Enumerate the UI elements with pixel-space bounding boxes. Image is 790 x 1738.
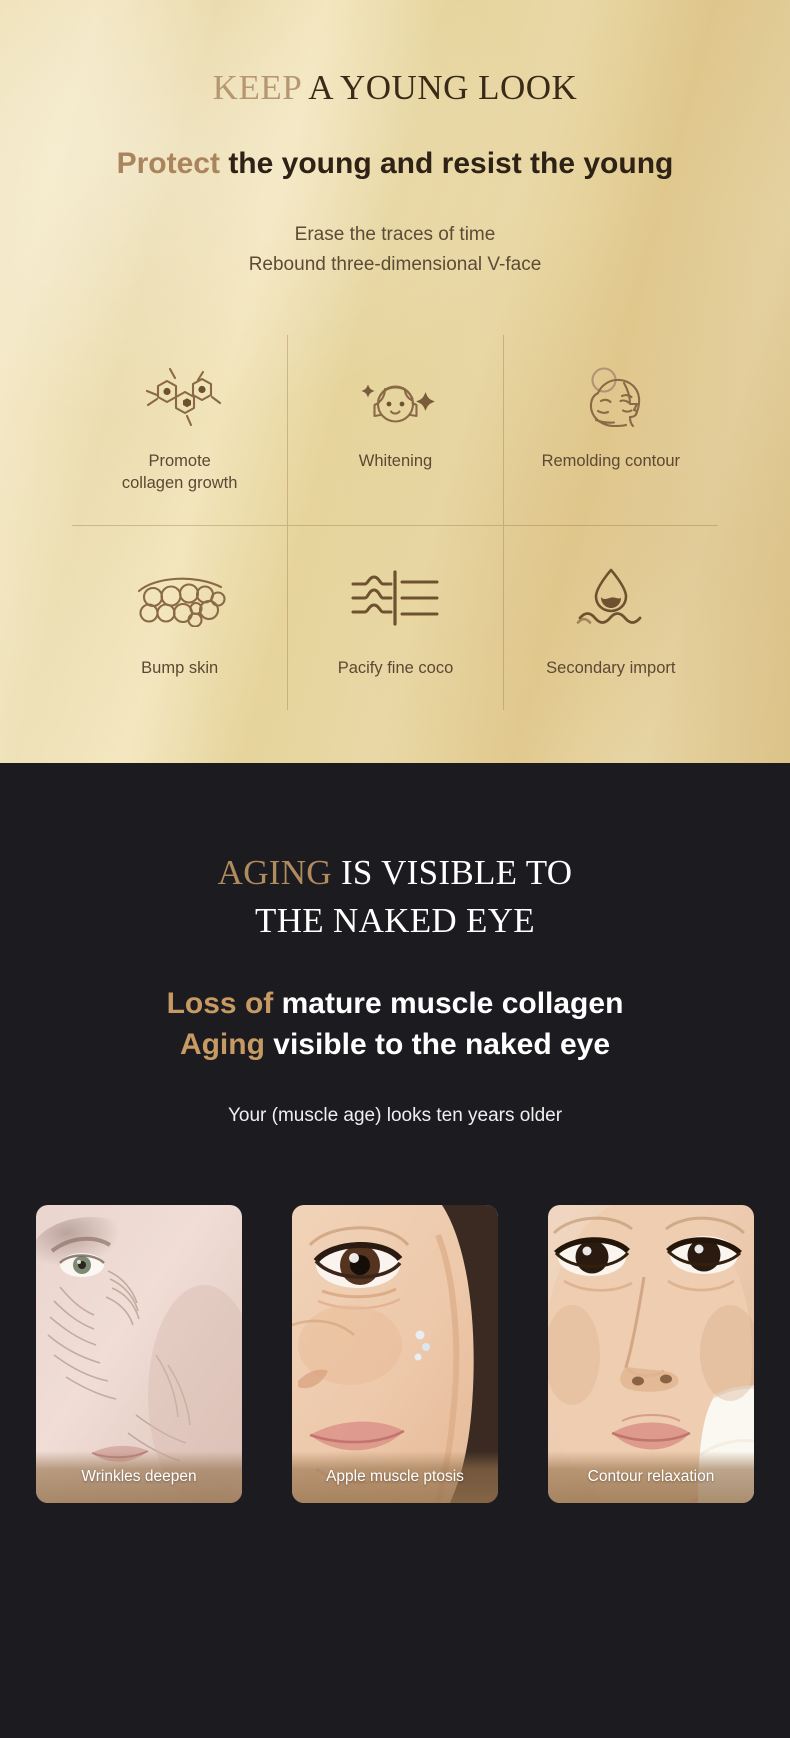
dark-section-note: Your (muscle age) looks ten years older xyxy=(0,1105,790,1127)
wavy-to-straight-lines-icon xyxy=(349,560,441,636)
feature-label: Secondary import xyxy=(546,658,675,680)
photo-caption: Apple muscle ptosis xyxy=(292,1451,498,1503)
honeycomb-collagen-icon xyxy=(136,361,224,437)
comparison-photo-row: Wrinkles deepen xyxy=(36,1205,754,1503)
page-title-accent: KEEP xyxy=(213,68,301,107)
feature-label-line-1: Pacify fine coco xyxy=(338,659,454,677)
page-title-rest: A YOUNG LOOK xyxy=(301,68,577,107)
feature-bump-skin[interactable]: Bump skin xyxy=(72,526,287,710)
feature-label-line-1: Whitening xyxy=(359,452,432,470)
photo-card-apple-muscle[interactable]: Apple muscle ptosis xyxy=(292,1205,498,1503)
feature-label: Whitening xyxy=(359,451,432,473)
dark-subtitle-accent-1: Loss of xyxy=(167,987,274,1020)
tagline-line-2: Rebound three-dimensional V-face xyxy=(249,254,542,275)
feature-whitening[interactable]: Whitening xyxy=(287,335,502,525)
feature-label: Bump skin xyxy=(141,658,218,680)
feature-pacify-fine-coco[interactable]: Pacify fine coco xyxy=(287,526,502,710)
feature-label-line-1: Secondary import xyxy=(546,659,675,677)
face-profile-bun-icon xyxy=(568,361,654,437)
sparkling-face-icon xyxy=(352,361,438,437)
page-subtitle-accent: Protect xyxy=(117,147,220,180)
feature-secondary-import[interactable]: Secondary import xyxy=(503,526,718,710)
feature-label-line-1: Remolding contour xyxy=(542,452,681,470)
feature-label-line-1: Promote xyxy=(148,452,210,470)
feature-label-line-1: Bump skin xyxy=(141,659,218,677)
feature-row-2: Bump skin xyxy=(72,525,718,710)
dark-subtitle-rest-2: visible to the naked eye xyxy=(265,1028,610,1061)
page-subtitle: Protect the young and resist the young xyxy=(0,146,790,182)
feature-label-line-2: collagen growth xyxy=(122,474,238,492)
dark-title-line-2: THE NAKED EYE xyxy=(255,901,535,940)
keep-young-look-section: KEEP A YOUNG LOOK Protect the young and … xyxy=(0,0,790,763)
cell-cluster-icon xyxy=(133,560,227,636)
dark-subtitle-rest-1: mature muscle collagen xyxy=(273,987,623,1020)
product-detail-page: KEEP A YOUNG LOOK Protect the young and … xyxy=(0,0,790,1563)
feature-promote-collagen-growth[interactable]: Promote collagen growth xyxy=(72,335,287,525)
dark-title-rest: IS VISIBLE TO xyxy=(332,853,572,892)
page-title: KEEP A YOUNG LOOK xyxy=(0,0,790,108)
feature-grid: Promote collagen growth xyxy=(72,335,718,710)
feature-label: Promote collagen growth xyxy=(122,451,238,495)
page-tagline: Erase the traces of time Rebound three-d… xyxy=(0,220,790,279)
dark-section-subtitle: Loss of mature muscle collagen Aging vis… xyxy=(0,984,790,1065)
dark-title-accent: AGING xyxy=(218,853,332,892)
photo-caption: Wrinkles deepen xyxy=(36,1451,242,1503)
dark-section-title: AGING IS VISIBLE TO THE NAKED EYE xyxy=(0,849,790,944)
feature-row-1: Promote collagen growth xyxy=(72,335,718,525)
water-droplet-waves-icon xyxy=(568,560,654,636)
feature-remolding-contour[interactable]: Remolding contour xyxy=(503,335,718,525)
photo-caption: Contour relaxation xyxy=(548,1451,754,1503)
tagline-line-1: Erase the traces of time xyxy=(295,224,496,245)
dark-subtitle-accent-2: Aging xyxy=(180,1028,265,1061)
feature-label: Remolding contour xyxy=(542,451,681,473)
feature-label: Pacify fine coco xyxy=(338,658,454,680)
photo-card-wrinkles[interactable]: Wrinkles deepen xyxy=(36,1205,242,1503)
page-subtitle-rest: the young and resist the young xyxy=(220,147,673,180)
photo-card-contour[interactable]: Contour relaxation xyxy=(548,1205,754,1503)
aging-visible-section: AGING IS VISIBLE TO THE NAKED EYE Loss o… xyxy=(0,763,790,1563)
